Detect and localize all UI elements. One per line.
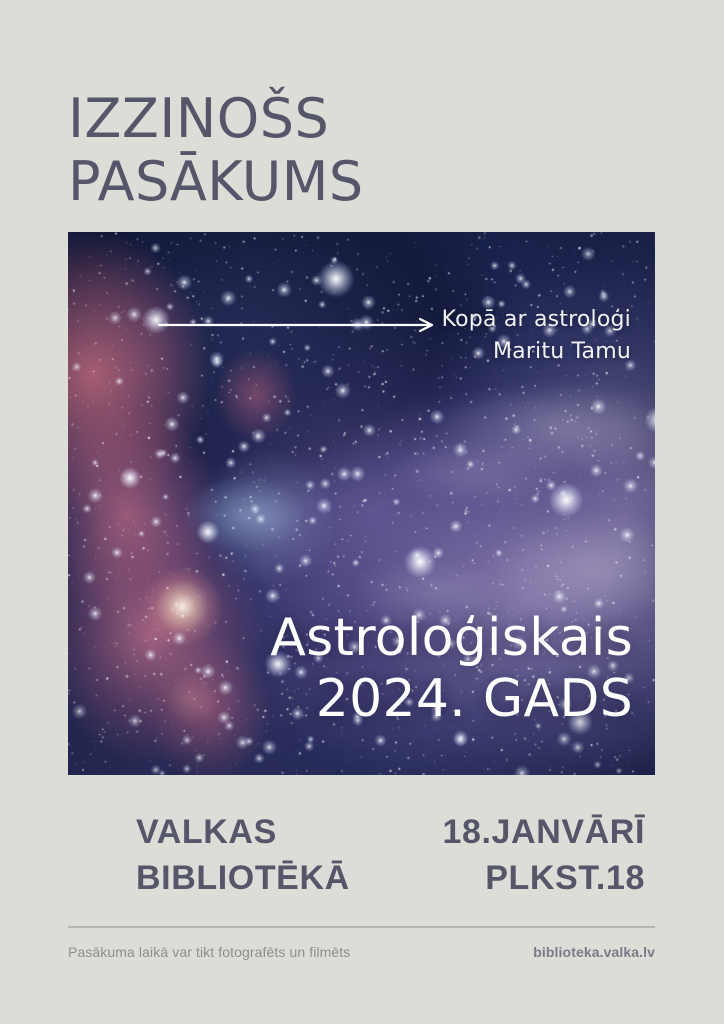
photo-notice: Pasākuma laikā var tikt fotografēts un f… xyxy=(68,944,350,960)
details-row: VALKAS BIBLIOTĒKĀ 18.JANVĀRĪ PLKST.18 xyxy=(68,810,655,901)
nebula-image-panel: Kopā ar astroloģi Maritu Tamu Astroloģis… xyxy=(68,232,655,775)
page-title: IZZINOŠS PASĀKUMS xyxy=(68,88,668,213)
venue-text: VALKAS BIBLIOTĒKĀ xyxy=(68,810,350,901)
footer-divider xyxy=(68,926,655,928)
astrologer-credit: Kopā ar astroloģi Maritu Tamu xyxy=(442,304,631,368)
event-title: Astroloģiskais 2024. GADS xyxy=(270,608,633,729)
poster-root: IZZINOŠS PASĀKUMS Kopā ar astroloģi Mari… xyxy=(0,0,724,1024)
website-link[interactable]: biblioteka.valka.lv xyxy=(533,944,655,960)
arrow-right-icon xyxy=(158,316,438,334)
datetime-text: 18.JANVĀRĪ PLKST.18 xyxy=(442,810,655,901)
footer: Pasākuma laikā var tikt fotografēts un f… xyxy=(68,944,655,960)
